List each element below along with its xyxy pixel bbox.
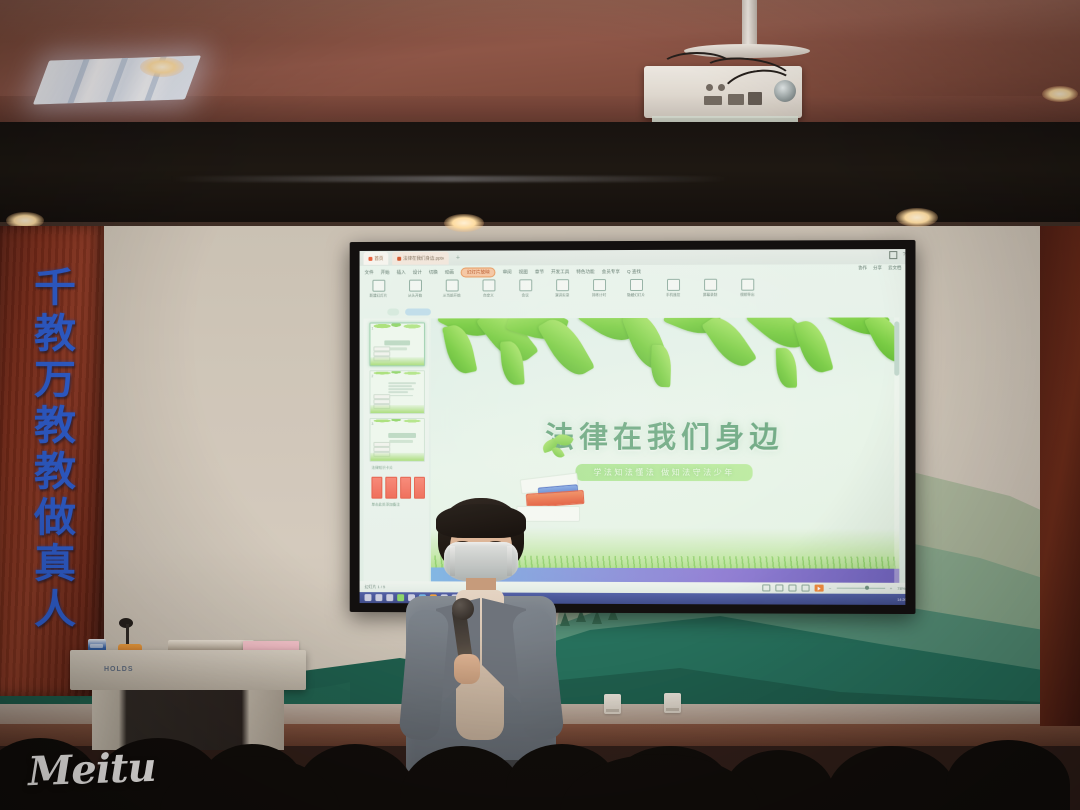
- ribbon-button-phone-remote[interactable]: 手机遥控: [660, 279, 686, 298]
- thumbnail-grass: [370, 405, 423, 413]
- hide-slide-icon: [630, 279, 643, 291]
- wps-menu-right: 协作 分享 云文档: [858, 265, 901, 271]
- calligraphy-char: 人: [34, 590, 76, 630]
- menu-item-start[interactable]: 开始: [381, 270, 390, 276]
- meeting-icon: [519, 279, 532, 291]
- thumbnail-card-row[interactable]: [371, 477, 424, 499]
- ribbon-button-meeting[interactable]: 会议: [512, 279, 538, 298]
- menu-item-design[interactable]: 设计: [413, 270, 422, 276]
- wall-calligraphy: 千 教 万 教 教 做 真 人: [28, 268, 82, 630]
- ribbon-label: 自定义: [483, 293, 494, 298]
- menu-item-view[interactable]: 视图: [519, 269, 528, 275]
- wps-logo-icon: [368, 256, 372, 260]
- thumbnail-title-bar: [384, 340, 410, 345]
- new-slide-icon: [372, 280, 385, 292]
- ribbon-button-screen-record[interactable]: 屏幕录制: [697, 279, 723, 298]
- tab-document-label: 法律在我们身边.pptx: [403, 255, 444, 261]
- audience-shoulder: [160, 756, 340, 810]
- slide-thumbnail[interactable]: 1: [369, 322, 424, 366]
- podium-brand-label: HOLDS: [104, 666, 134, 673]
- phone-remote-icon: [667, 279, 680, 291]
- wall-outlet[interactable]: [664, 693, 681, 713]
- ribbon-button-hide-slide[interactable]: 隐藏幻灯片: [623, 279, 649, 298]
- tab-home-label: 首页: [374, 255, 383, 261]
- audience-head: [200, 744, 304, 810]
- ribbon-button-export-video[interactable]: 视频导出: [734, 279, 760, 298]
- reading-view-icon[interactable]: [789, 584, 797, 591]
- audience-head: [826, 746, 958, 810]
- cloud-doc-button[interactable]: 云文档: [888, 265, 901, 271]
- tab-document[interactable]: 法律在我们身边.pptx: [392, 252, 449, 265]
- wps-tab-bar: 首页 法律在我们身边.pptx + ?: [360, 249, 906, 266]
- downlight-icon: [1042, 86, 1078, 102]
- menu-item-section[interactable]: 章节: [535, 269, 544, 275]
- calligraphy-char: 千: [34, 268, 76, 308]
- ceiling-highlight: [0, 0, 1080, 42]
- window-controls: ?: [889, 251, 905, 259]
- slide-scrollbar[interactable]: [894, 317, 899, 582]
- subbar-chip[interactable]: [387, 308, 399, 315]
- calligraphy-char: 教: [34, 452, 76, 492]
- pptx-file-icon: [397, 256, 401, 260]
- thumbnail-title-bar: [389, 433, 417, 438]
- menu-item-animation[interactable]: 动画: [445, 270, 454, 276]
- audience-head: [606, 746, 734, 810]
- menu-item-insert[interactable]: 插入: [397, 270, 406, 276]
- slide-title[interactable]: 法律在我们身边: [431, 414, 899, 456]
- thumbnail-leaf-band: [370, 323, 423, 336]
- zoom-in-icon[interactable]: +: [890, 586, 892, 591]
- wps-ribbon: 新建幻灯片 从头开始 从当前开始 自定义: [360, 278, 906, 305]
- play-from-start-icon: [409, 280, 422, 292]
- ribbon-button-from-start[interactable]: 从头开始: [402, 280, 428, 299]
- meitu-watermark: Meitu: [27, 744, 156, 795]
- audience-head: [946, 740, 1070, 810]
- ribbon-label: 从当前开始: [443, 293, 461, 298]
- slide-sorter-icon[interactable]: [776, 584, 784, 591]
- record-icon: [556, 279, 569, 291]
- ribbon-label: 新建幻灯片: [369, 294, 387, 299]
- zoom-out-icon[interactable]: −: [829, 586, 831, 591]
- menu-item-file[interactable]: 文件: [365, 270, 374, 276]
- projector-mount-pole: [742, 0, 757, 48]
- speaker: [396, 498, 566, 810]
- calligraphy-char: 真: [34, 544, 76, 584]
- menu-item-transition[interactable]: 切换: [429, 270, 438, 276]
- custom-show-icon: [482, 279, 495, 291]
- subbar-chip[interactable]: [405, 308, 431, 315]
- menu-item-review[interactable]: 审阅: [503, 269, 512, 275]
- speaker-lower-body: [440, 760, 518, 810]
- sprout-icon: [542, 432, 572, 460]
- notes-view-icon[interactable]: [802, 585, 810, 592]
- thumbnail-text-lines: [389, 382, 419, 398]
- thumbnail-grass: [370, 453, 423, 461]
- downlight-icon: [140, 57, 184, 77]
- wps-sub-toolbar: [360, 304, 906, 317]
- thumbnail-subtitle-bar: [390, 440, 414, 443]
- play-current-icon: [445, 280, 458, 292]
- slide-thumbnail[interactable]: 2: [369, 370, 424, 414]
- ribbon-button-custom-show[interactable]: 自定义: [476, 279, 502, 298]
- zoom-level[interactable]: 78%: [897, 586, 905, 591]
- face-mask: [444, 542, 518, 582]
- ribbon-label: 隐藏幻灯片: [627, 293, 645, 298]
- task-view-icon[interactable]: [386, 594, 393, 601]
- share-button[interactable]: 分享: [873, 265, 882, 271]
- help-icon[interactable]: ?: [903, 252, 906, 258]
- podium-base: [92, 690, 284, 750]
- downlight-icon: [444, 214, 484, 232]
- thumbnail-section-label: 法律知识卡片: [371, 466, 428, 471]
- audience-head: [724, 750, 834, 810]
- zoom-slider[interactable]: [836, 587, 884, 589]
- calligraphy-char: 万: [34, 360, 76, 400]
- slide-counter: 幻灯片 1 / 5: [365, 584, 386, 590]
- restore-icon[interactable]: [889, 251, 897, 259]
- ribbon-label: 手机遥控: [666, 293, 680, 298]
- slide-subtitle[interactable]: 学法知法懂法 做知法守法少年: [575, 464, 752, 481]
- tab-home[interactable]: 首页: [364, 252, 389, 265]
- taskbar-clock[interactable]: 14:26: [897, 597, 905, 601]
- leaf-canopy: [431, 317, 899, 406]
- normal-view-icon[interactable]: [763, 584, 771, 591]
- calligraphy-char: 教: [34, 314, 76, 354]
- ribbon-button-record[interactable]: 演讲实录: [549, 279, 575, 298]
- collaborate-button[interactable]: 协作: [858, 265, 867, 271]
- ribbon-label: 会议: [522, 293, 529, 298]
- ribbon-button-timer[interactable]: 排练计时: [586, 279, 612, 298]
- calligraphy-char: 做: [34, 498, 76, 538]
- wall-outlet[interactable]: [604, 694, 621, 714]
- menu-item-slideshow[interactable]: 幻灯片放映: [461, 267, 496, 277]
- ribbon-label: 从头开始: [408, 294, 422, 299]
- screen-record-icon: [704, 279, 717, 291]
- thumbnail-leaf-band: [370, 419, 423, 428]
- soffit-reflection: [170, 176, 730, 182]
- calligraphy-char: 教: [34, 406, 76, 446]
- start-icon[interactable]: [365, 594, 372, 601]
- ribbon-label: 屏幕录制: [703, 293, 717, 298]
- menu-item-search[interactable]: Q 查找: [627, 269, 641, 275]
- menu-item-features[interactable]: 特色功能: [576, 269, 594, 275]
- export-video-icon: [741, 279, 754, 291]
- new-tab-button[interactable]: +: [453, 255, 463, 262]
- red-wood-column-right: [1040, 226, 1080, 726]
- thumbnail-grass: [370, 357, 423, 365]
- menu-item-member[interactable]: 会员专享: [602, 269, 620, 275]
- ribbon-button-from-current[interactable]: 从当前开始: [439, 279, 465, 298]
- handheld-microphone-head: [452, 598, 474, 620]
- thumbnail-leaf-band: [370, 371, 423, 380]
- photo-scene: 千 教 万 教 教 做 真 人 首页 法律在我们身边.pptx: [0, 0, 1080, 810]
- speaker-fringe: [436, 504, 526, 538]
- ribbon-label: 排练计时: [592, 293, 606, 298]
- timer-icon: [593, 279, 606, 291]
- downlight-icon: [896, 208, 938, 227]
- speaker-hand: [454, 654, 480, 684]
- slideshow-play-button[interactable]: [815, 585, 824, 592]
- ribbon-label: 视频导出: [740, 293, 754, 298]
- slide-thumbnail[interactable]: 3: [369, 418, 424, 462]
- menu-item-devtools[interactable]: 开发工具: [551, 269, 569, 275]
- audience-shoulder: [560, 754, 760, 810]
- ribbon-label: 演讲实录: [555, 293, 569, 298]
- ribbon-button-new-slide[interactable]: 新建幻灯片: [366, 280, 392, 299]
- search-icon[interactable]: [375, 594, 382, 601]
